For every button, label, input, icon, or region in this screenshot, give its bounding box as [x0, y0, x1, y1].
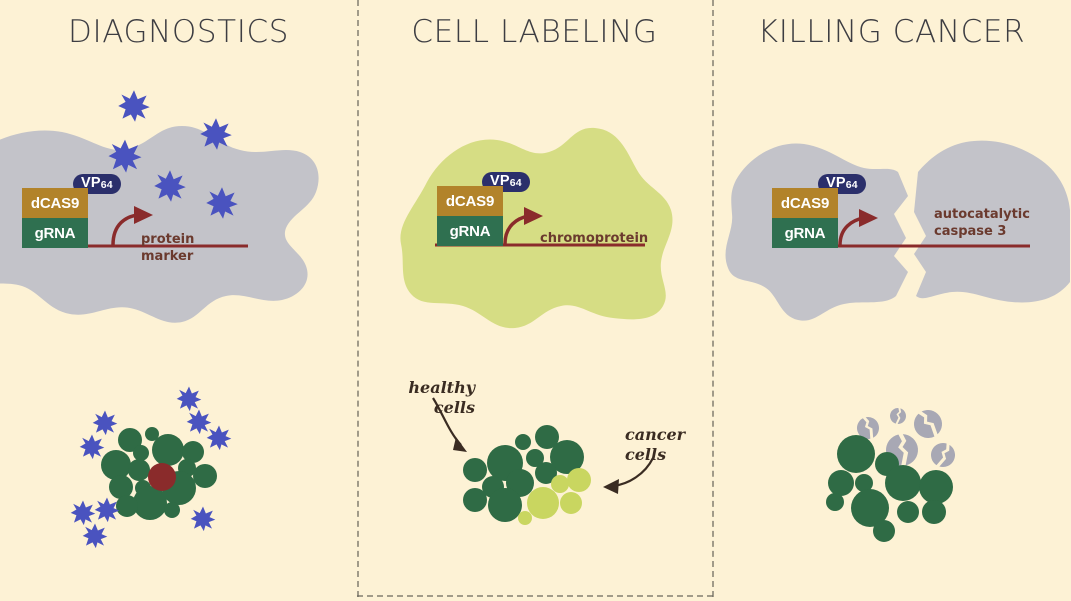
- annotation-cancer-cells-line1: cancer: [625, 425, 713, 445]
- dying-cell: [889, 407, 908, 425]
- annotation-healthy-cells: healthy cells: [387, 378, 475, 418]
- diseased-cell: [148, 463, 176, 491]
- grna-box: gRNA: [437, 216, 503, 246]
- grna-box: gRNA: [22, 218, 88, 248]
- cancer-cell: [551, 475, 569, 493]
- diagnostics-graphics: [0, 0, 357, 601]
- dying-cell: [927, 439, 959, 471]
- dying-cell: [909, 405, 948, 444]
- gene-label-protein-marker: protein marker: [141, 231, 194, 265]
- cancer-cells-arrowhead: [603, 479, 619, 494]
- cancer-cell: [567, 468, 591, 492]
- annotation-cancer-cells: cancer cells: [625, 425, 713, 465]
- diagnostics-cell-cluster: [101, 427, 217, 520]
- grna-box: gRNA: [772, 218, 838, 248]
- panel-killing-cancer: KILLING CANCER: [712, 0, 1071, 601]
- annotation-healthy-cells-line2: cells: [387, 398, 475, 418]
- gene-label-caspase-line2: caspase 3: [934, 223, 1030, 240]
- dcas9-box: dCAS9: [772, 188, 838, 218]
- cancer-cell: [518, 511, 532, 525]
- gene-label-chromoprotein: chromoprotein: [540, 230, 648, 247]
- cell-labeling-graphics: [357, 0, 712, 601]
- gene-label-caspase: autocatalytic caspase 3: [934, 206, 1030, 240]
- annotation-cancer-cells-line2: cells: [625, 445, 713, 465]
- cancer-cell: [527, 487, 559, 519]
- cancer-cell: [560, 492, 582, 514]
- divider-left: [357, 0, 359, 597]
- dcas9-box: dCAS9: [437, 186, 503, 216]
- panel-diagnostics: DIAGNOSTICS: [0, 0, 357, 601]
- divider-right: [712, 0, 714, 597]
- dcas9-box: dCAS9: [22, 188, 88, 218]
- crispr-applications-infographic: DIAGNOSTICS: [0, 0, 1071, 601]
- gene-label-caspase-line1: autocatalytic: [934, 206, 1030, 223]
- panel-cell-labeling: CELL LABELING: [357, 0, 712, 601]
- annotation-healthy-cells-line1: healthy: [387, 378, 475, 398]
- killing-cancer-graphics: [712, 0, 1071, 601]
- divider-bottom: [357, 595, 713, 597]
- cell-labeling-cluster: [463, 425, 591, 525]
